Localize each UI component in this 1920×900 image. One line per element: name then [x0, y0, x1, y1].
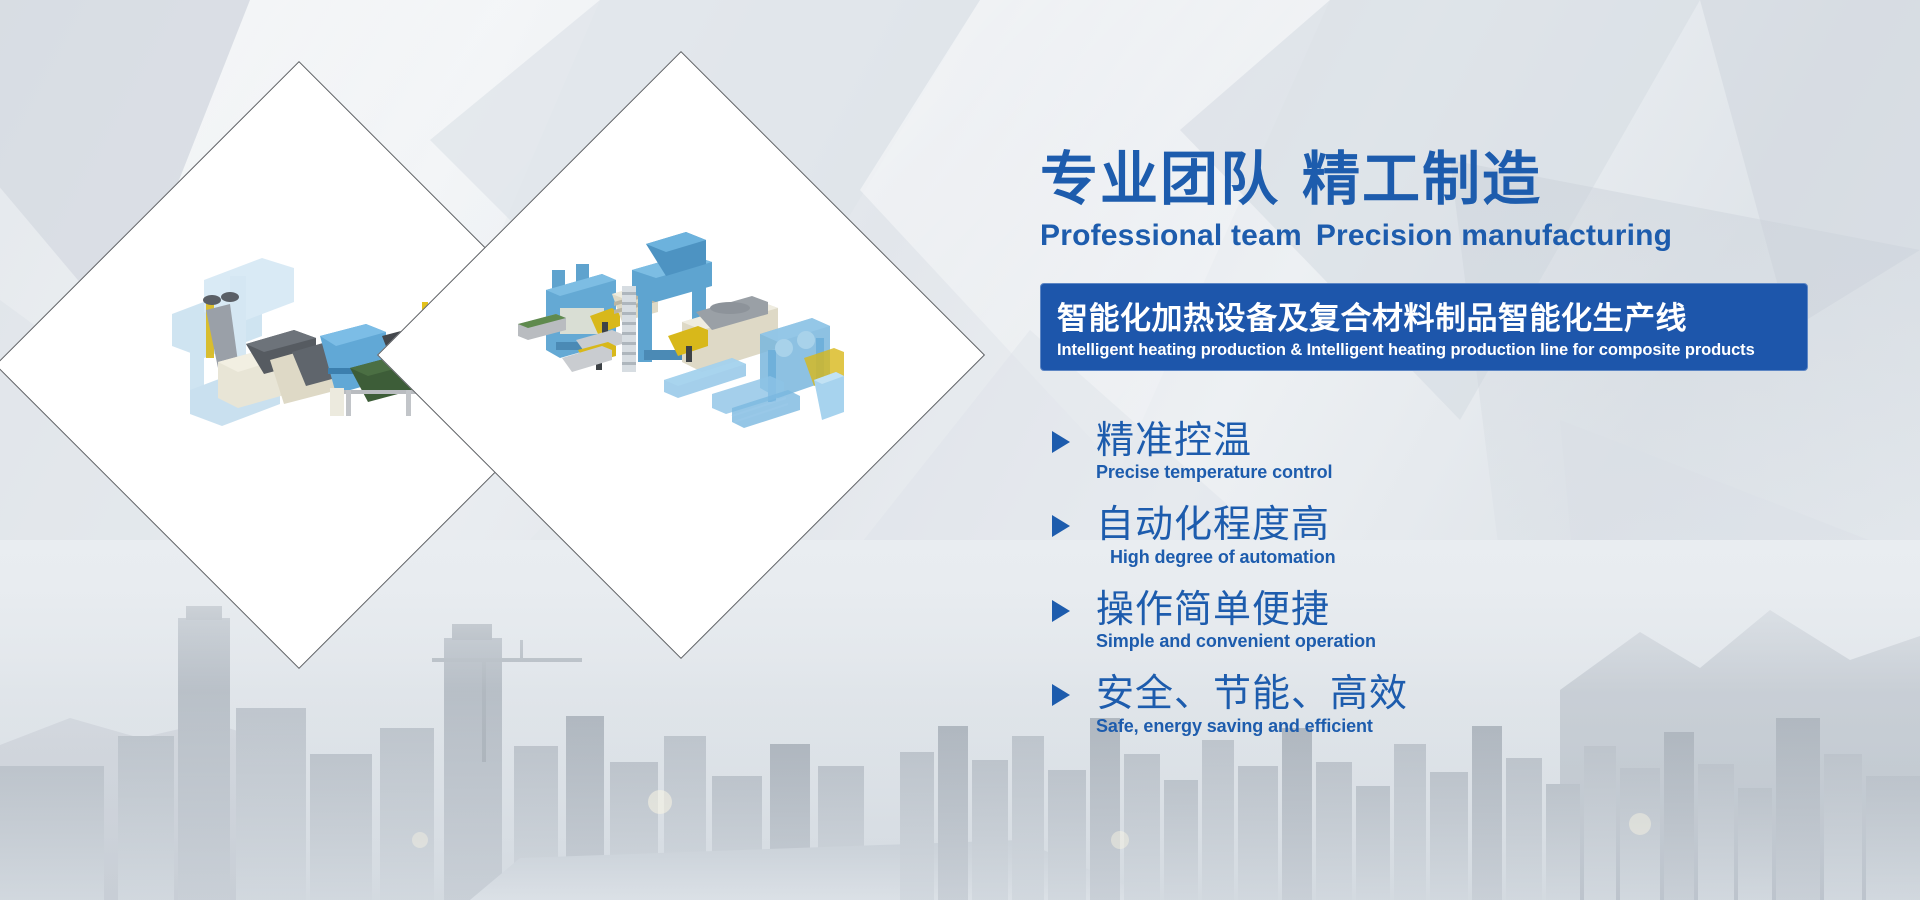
banner-stage: 专业团队精工制造 Professional teamPrecision manu…: [0, 0, 1920, 900]
headline-cn-part-2: 精工制造: [1302, 145, 1542, 213]
page-title: 专业团队精工制造: [1040, 148, 1840, 211]
feature-item-4: 安全、节能、高效 Safe, energy saving and efficie…: [1040, 672, 1840, 737]
banner-content: 专业团队精工制造 Professional teamPrecision manu…: [1040, 148, 1840, 737]
feature-2-label-cn: 自动化程度高: [1096, 503, 1840, 546]
feature-4-label-en: Safe, energy saving and efficient: [1096, 716, 1840, 737]
triangle-bullet-icon: [1052, 431, 1070, 453]
feature-3-label-en: Simple and convenient operation: [1096, 631, 1840, 652]
feature-item-2: 自动化程度高 High degree of automation: [1040, 503, 1840, 568]
feature-3-label-cn: 操作简单便捷: [1096, 588, 1840, 631]
page-subtitle: Professional teamPrecision manufacturing: [1040, 219, 1840, 253]
feature-2-label-en: High degree of automation: [1110, 547, 1840, 568]
triangle-bullet-icon: [1052, 515, 1070, 537]
feature-1-label-en: Precise temperature control: [1096, 462, 1840, 483]
product-image-diamond-2: [377, 51, 985, 659]
product-line-banner: 智能化加热设备及复合材料制品智能化生产线 Intelligent heating…: [1040, 283, 1808, 371]
triangle-bullet-icon: [1052, 600, 1070, 622]
feature-item-3: 操作简单便捷 Simple and convenient operation: [1040, 588, 1840, 653]
feature-1-label-cn: 精准控温: [1096, 419, 1840, 462]
feature-list: 精准控温 Precise temperature control 自动化程度高 …: [1040, 419, 1840, 737]
headline-en-part-1: Professional team: [1040, 219, 1302, 252]
triangle-bullet-icon: [1052, 684, 1070, 706]
headline-en-part-2: Precision manufacturing: [1316, 219, 1672, 252]
feature-4-label-cn: 安全、节能、高效: [1096, 672, 1840, 715]
product-line-banner-en: Intelligent heating production & Intelli…: [1057, 341, 1791, 360]
production-line-render-2: [516, 230, 846, 480]
headline-cn-part-1: 专业团队: [1040, 145, 1280, 213]
product-line-banner-cn: 智能化加热设备及复合材料制品智能化生产线: [1057, 293, 1791, 338]
feature-item-1: 精准控温 Precise temperature control: [1040, 419, 1840, 484]
